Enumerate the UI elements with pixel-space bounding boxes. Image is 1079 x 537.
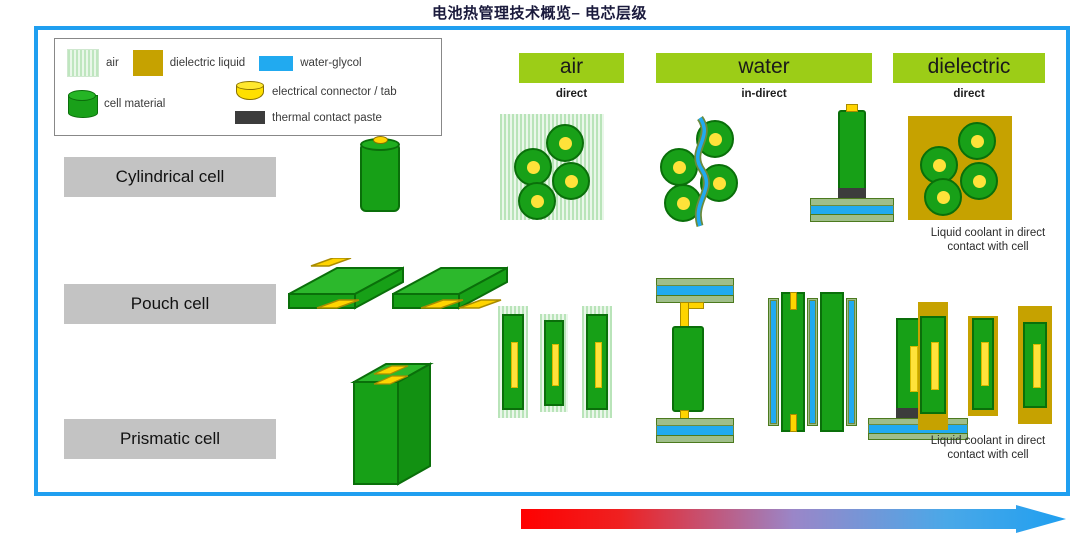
cell-plan-donut (514, 148, 552, 186)
water-cylindrical-serpentine-art (660, 120, 790, 224)
dielectric-liquid-swatch-icon (133, 50, 163, 76)
cell-plan-donut (518, 182, 556, 220)
cell-material-cylinder-icon (67, 89, 97, 119)
column-subtitle: direct (519, 88, 624, 100)
legend-label: air (106, 57, 119, 69)
dielectric-cylindrical-caption: Liquid coolant in direct contact with ce… (900, 226, 1076, 255)
prismatic-cell-isometric-icon (348, 360, 458, 490)
legend-item-air: air (67, 49, 119, 77)
legend-item-electrical-connector: electrical connector / tab (235, 81, 397, 103)
cylindrical-cell-reference-art (360, 136, 400, 214)
dielectric-pouch-art (918, 302, 1062, 430)
legend-item-thermal-contact-paste: thermal contact paste (235, 111, 382, 124)
prismatic-cell-reference-art (348, 360, 458, 490)
dielectric-prismatic-caption: Liquid coolant in direct contact with ce… (900, 434, 1076, 463)
legend-item-water-glycol: water-glycol (259, 56, 361, 71)
cell-plan-donut (924, 178, 962, 216)
column-title: water (656, 53, 872, 83)
legend-box: air dielectric liquid water-glycol cell … (54, 38, 442, 136)
legend-item-dielectric-liquid: dielectric liquid (133, 50, 245, 76)
water-glycol-tube-icon (684, 116, 724, 228)
page-title: 电池热管理技术概览– 电芯层级 (0, 2, 1079, 23)
air-pouch-art (498, 306, 614, 418)
row-label-prismatic-cell: Prismatic cell (64, 419, 276, 459)
column-header-dielectric: dielectric direct (893, 53, 1045, 100)
column-header-water: water in-direct (656, 53, 872, 100)
row-label-cylindrical-cell: Cylindrical cell (64, 157, 276, 197)
electrical-connector-icon (235, 81, 265, 103)
cell-plan-donut (546, 124, 584, 162)
column-header-air: air direct (519, 53, 624, 100)
dielectric-cylindrical-art (908, 116, 1012, 220)
column-title: air (519, 53, 624, 83)
cell-plan-donut (958, 122, 996, 160)
water-pouch-stack-art (768, 292, 864, 434)
column-subtitle: in-direct (656, 88, 872, 100)
legend-label: electrical connector / tab (272, 86, 397, 98)
cell-plan-donut (552, 162, 590, 200)
column-title: dielectric (893, 53, 1045, 83)
thermal-contact-paste-swatch-icon (235, 111, 265, 124)
air-cylindrical-art (500, 114, 604, 220)
water-cylindrical-coldplate-art (806, 100, 896, 224)
column-subtitle: direct (893, 88, 1045, 100)
water-pouch-tabcooled-art (650, 278, 746, 446)
water-glycol-swatch-icon (259, 56, 293, 71)
legend-item-cell-material: cell material (67, 89, 165, 119)
air-swatch-icon (67, 49, 99, 77)
cell-plan-donut (960, 162, 998, 200)
legend-label: dielectric liquid (170, 57, 245, 69)
row-label-pouch-cell: Pouch cell (64, 284, 276, 324)
legend-label: thermal contact paste (272, 112, 382, 124)
legend-label: water-glycol (300, 57, 361, 69)
diagram-frame: air dielectric liquid water-glycol cell … (34, 26, 1070, 496)
temperature-gradient-arrow (521, 505, 1066, 533)
legend-label: cell material (104, 98, 165, 110)
